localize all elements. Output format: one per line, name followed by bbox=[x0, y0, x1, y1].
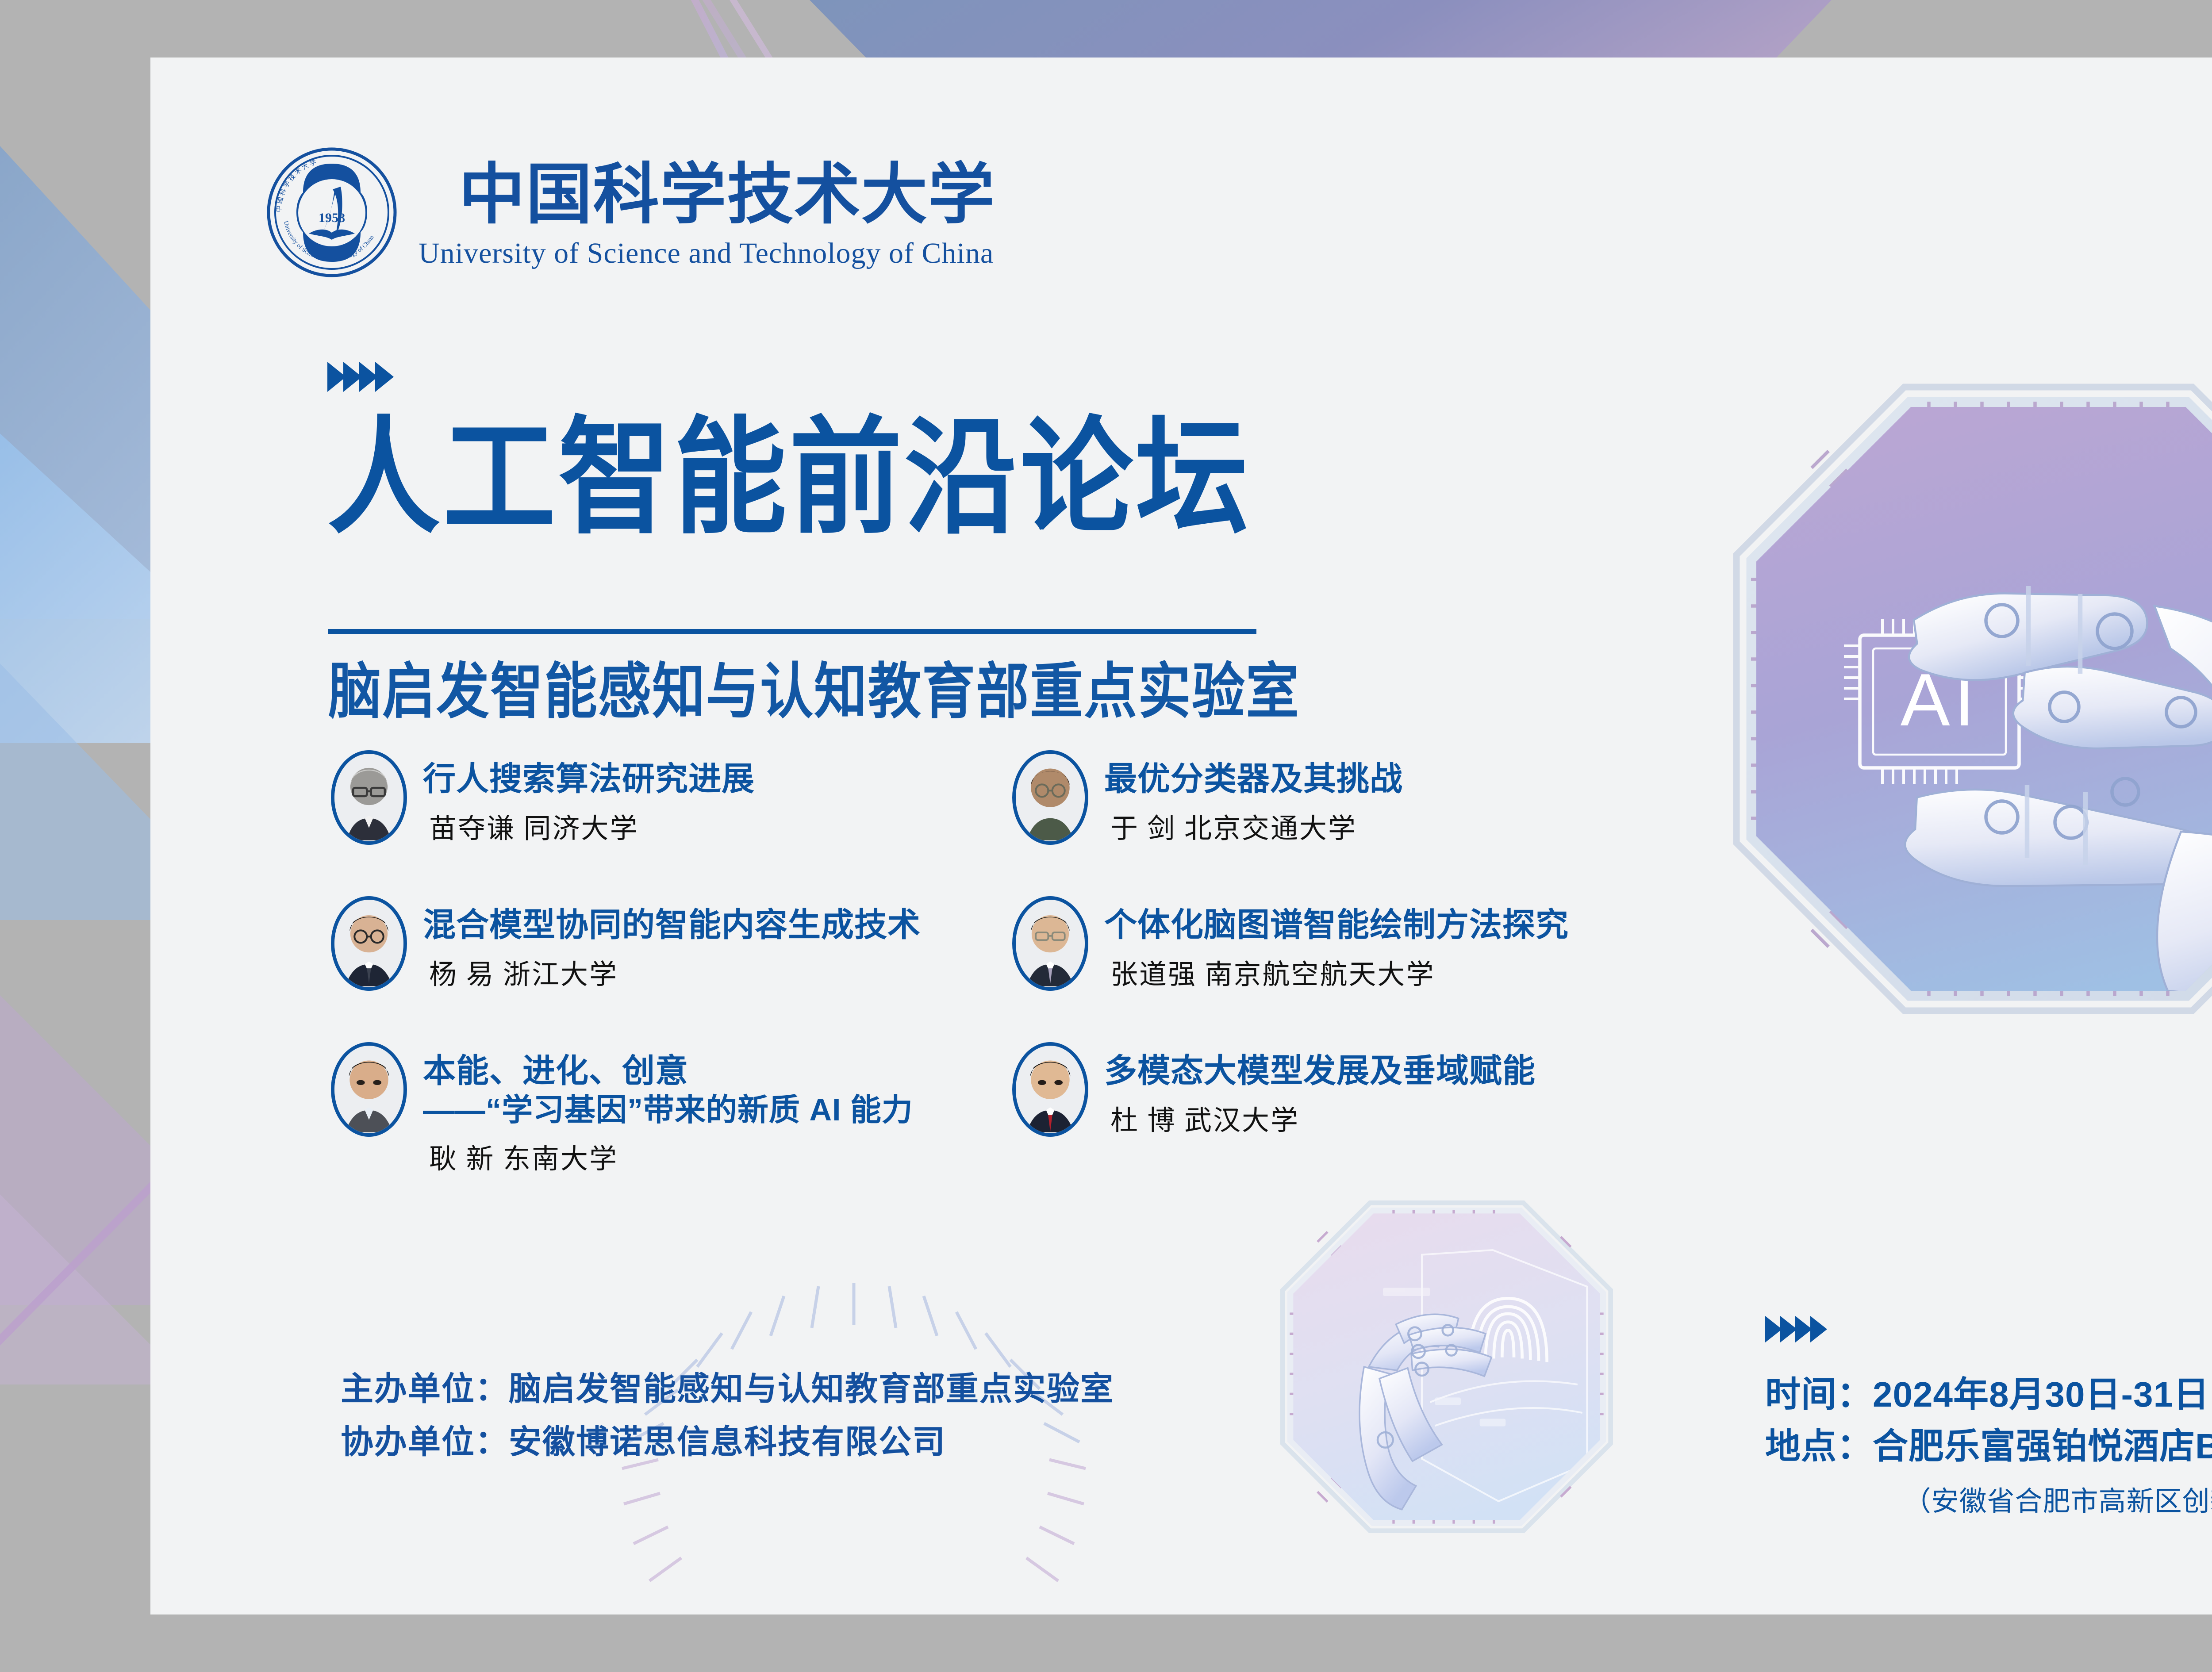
speaker-name-affiliation: 张道强 南京航空航天大学 bbox=[1104, 952, 1569, 992]
chevron-right-icon bbox=[1810, 1316, 1827, 1342]
avatar-photo-icon bbox=[334, 900, 403, 987]
robot-hand-ai-chip-octagon-icon: AI bbox=[1717, 367, 2212, 1031]
speaker-item[interactable]: 最优分类器及其挑战 于 剑 北京交通大学 bbox=[1012, 748, 1645, 894]
speaker-text: 个体化脑图谱智能绘制方法探究 张道强 南京航空航天大学 bbox=[1104, 894, 1569, 992]
university-name-en: University of Science and Technology of … bbox=[419, 237, 994, 270]
speaker-text: 多模态大模型发展及垂域赋能 杜 博 武汉大学 bbox=[1104, 1039, 1536, 1138]
event-time: 时间：2024年8月30日-31日 bbox=[1765, 1369, 2212, 1421]
event-address: （安徽省合肥市高新区创新大道 229号） bbox=[1765, 1479, 2212, 1519]
co-organizer: 协办单位：安徽博诺思信息科技有限公司 bbox=[341, 1415, 1114, 1469]
event-info-block: 时间：2024年8月30日-31日 地点：合肥乐富强铂悦酒店B栋3楼嘉悦厅 （安… bbox=[1765, 1316, 2212, 1519]
speaker-name-affiliation: 杜 博 武汉大学 bbox=[1104, 1098, 1536, 1138]
talk-title: 多模态大模型发展及垂域赋能 bbox=[1104, 1051, 1536, 1091]
chevron-right-icon bbox=[375, 362, 394, 392]
headline-chevron-group bbox=[327, 362, 391, 392]
avatar bbox=[1012, 896, 1088, 991]
talk-title: 行人搜索算法研究进展 bbox=[423, 759, 755, 799]
chevron-right-icon bbox=[1795, 1316, 1812, 1342]
ustc-seal-icon: 1958 中 国 科 学 技 术 大 学 University of Scien… bbox=[265, 146, 398, 279]
event-chevron-group bbox=[1765, 1316, 2212, 1342]
university-name-cn: 中国科学技术大学 bbox=[459, 159, 994, 232]
secondary-octagon-fingerprint bbox=[1270, 1190, 1624, 1544]
avatar bbox=[1012, 750, 1088, 845]
robot-hand-fingerprint-octagon-icon bbox=[1270, 1190, 1624, 1544]
talk-title: 本能、进化、创意 bbox=[423, 1051, 913, 1091]
speaker-text: 行人搜索算法研究进展 苗夺谦 同济大学 bbox=[423, 748, 755, 846]
hero-octagon-ai-hand: AI bbox=[1717, 367, 2212, 1031]
talk-title: 个体化脑图谱智能绘制方法探究 bbox=[1104, 905, 1569, 945]
speaker-name-affiliation: 耿 新 东南大学 bbox=[423, 1136, 913, 1176]
speaker-name-affiliation: 苗夺谦 同济大学 bbox=[423, 806, 755, 846]
talk-title: 混合模型协同的智能内容生成技术 bbox=[423, 905, 921, 945]
poster-canvas: 1958 中 国 科 学 技 术 大 学 University of Scien… bbox=[0, 0, 2212, 1672]
speaker-item[interactable]: 个体化脑图谱智能绘制方法探究 张道强 南京航空航天大学 bbox=[1012, 894, 1645, 1039]
speaker-name-affiliation: 杨 易 浙江大学 bbox=[423, 952, 921, 992]
chevron-right-icon bbox=[1780, 1316, 1797, 1342]
host-organization: 主办单位：脑启发智能感知与认知教育部重点实验室 bbox=[341, 1362, 1114, 1415]
seal-year: 1958 bbox=[319, 211, 345, 225]
university-logo: 1958 中 国 科 学 技 术 大 学 University of Scien… bbox=[265, 146, 994, 279]
speaker-text: 最优分类器及其挑战 于 剑 北京交通大学 bbox=[1104, 748, 1403, 846]
title-divider bbox=[328, 629, 1256, 634]
organizer-block: 主办单位：脑启发智能感知与认知教育部重点实验室 协办单位：安徽博诺思信息科技有限… bbox=[341, 1362, 1114, 1469]
avatar bbox=[1012, 1042, 1088, 1137]
avatar-photo-icon bbox=[1016, 1046, 1085, 1133]
avatar bbox=[331, 750, 407, 845]
page-title: 人工智能前沿论坛 bbox=[327, 411, 1610, 545]
speaker-item[interactable]: 本能、进化、创意 ——“学习基因”带来的新质 AI 能力 耿 新 东南大学 bbox=[331, 1039, 964, 1199]
chevron-right-icon bbox=[1765, 1316, 1782, 1342]
avatar bbox=[331, 896, 407, 991]
speaker-text: 混合模型协同的智能内容生成技术 杨 易 浙江大学 bbox=[423, 894, 921, 992]
university-name-cn-calligraphy: 中国科学技术大学 bbox=[419, 154, 994, 234]
speaker-list: 行人搜索算法研究进展 苗夺谦 同济大学 最优分类器及其挑战 于 剑 北京交通大学 bbox=[331, 748, 1649, 1199]
speaker-text: 本能、进化、创意 ——“学习基因”带来的新质 AI 能力 耿 新 东南大学 bbox=[423, 1039, 913, 1176]
speaker-item[interactable]: 多模态大模型发展及垂域赋能 杜 博 武汉大学 bbox=[1012, 1039, 1645, 1199]
avatar-photo-icon bbox=[334, 1046, 403, 1133]
speaker-item[interactable]: 行人搜索算法研究进展 苗夺谦 同济大学 bbox=[331, 748, 964, 894]
speaker-item[interactable]: 混合模型协同的智能内容生成技术 杨 易 浙江大学 bbox=[331, 894, 964, 1039]
talk-subtitle: ——“学习基因”带来的新质 AI 能力 bbox=[423, 1091, 913, 1129]
page-subtitle: 脑启发智能感知与认知教育部重点实验室 bbox=[328, 642, 1611, 730]
event-place: 地点：合肥乐富强铂悦酒店B栋3楼嘉悦厅 bbox=[1765, 1421, 2212, 1473]
avatar-photo-icon bbox=[1016, 900, 1085, 987]
avatar-photo-icon bbox=[334, 754, 403, 841]
talk-title: 最优分类器及其挑战 bbox=[1104, 759, 1403, 799]
avatar bbox=[331, 1042, 407, 1137]
speaker-name-affiliation: 于 剑 北京交通大学 bbox=[1104, 806, 1403, 846]
avatar-photo-icon bbox=[1016, 754, 1085, 841]
